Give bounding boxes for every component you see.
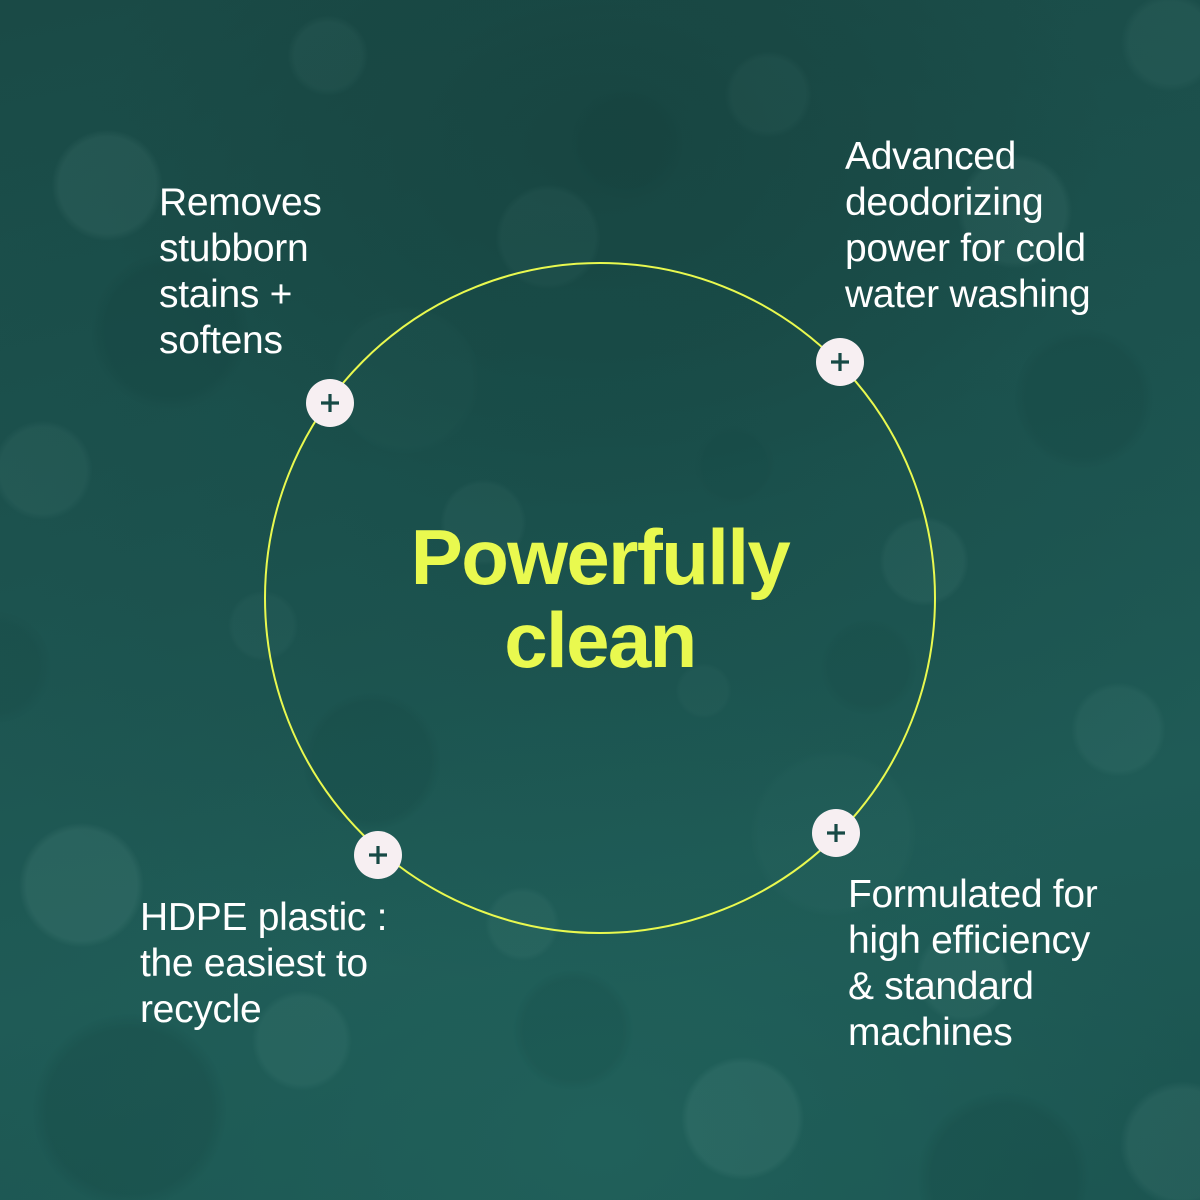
plus-icon [318,391,342,415]
plus-icon [366,843,390,867]
center-headline: Powerfully clean [300,516,900,681]
benefit-label-deodorizing-power: Advanced deodorizing power for cold wate… [845,134,1145,318]
plus-icon [824,821,848,845]
plus-icon [828,350,852,374]
benefit-label-high-efficiency: Formulated for high efficiency & standar… [848,872,1148,1056]
benefit-marker-removes-stains[interactable] [306,379,354,427]
product-benefits-infographic: Powerfully clean Removes stubborn sta [0,0,1200,1200]
benefit-label-hdpe-plastic: HDPE plastic : the easiest to recycle [140,895,440,1033]
benefit-marker-deodorizing-power[interactable] [816,338,864,386]
benefit-marker-hdpe-plastic[interactable] [354,831,402,879]
benefit-label-removes-stains: Removes stubborn stains + softens [159,180,459,364]
benefit-marker-high-efficiency[interactable] [812,809,860,857]
